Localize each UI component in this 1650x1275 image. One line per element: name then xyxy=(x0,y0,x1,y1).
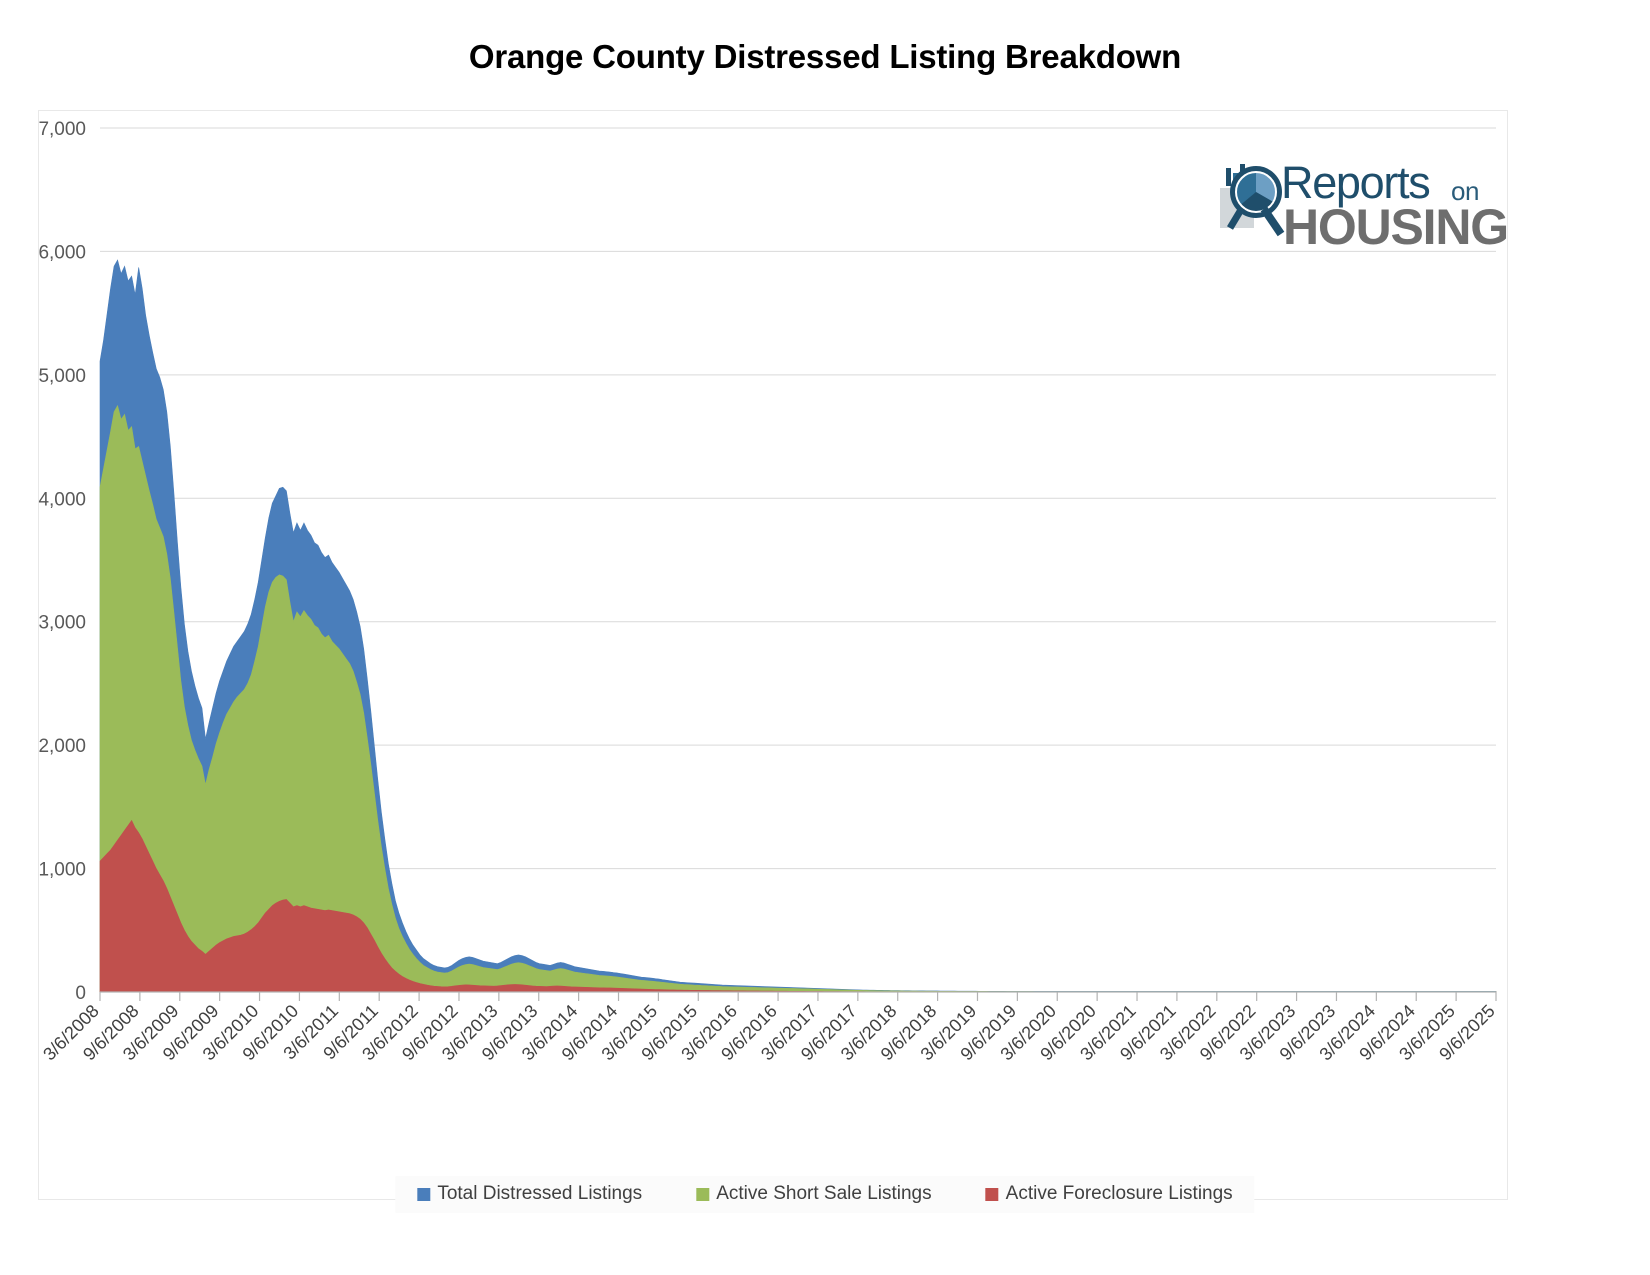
chart-card: Orange County Distressed Listing Breakdo… xyxy=(0,0,1650,1275)
logo-wordmark: Reports on HOUSING xyxy=(1281,160,1491,260)
legend-item-label: Active Foreclosure Listings xyxy=(1006,1183,1233,1205)
plot-frame xyxy=(38,110,1508,1200)
legend-item[interactable]: Total Distressed Listings xyxy=(417,1183,642,1205)
logo-word-housing: HOUSING xyxy=(1283,202,1508,252)
chart-title: Orange County Distressed Listing Breakdo… xyxy=(0,38,1650,76)
chart-legend: Total Distressed ListingsActive Short Sa… xyxy=(395,1176,1254,1213)
legend-swatch-icon xyxy=(696,1188,709,1201)
legend-item-label: Active Short Sale Listings xyxy=(716,1183,931,1205)
reports-on-housing-logo: Reports on HOUSING xyxy=(1218,160,1486,260)
legend-item-label: Total Distressed Listings xyxy=(437,1183,642,1205)
legend-item[interactable]: Active Short Sale Listings xyxy=(696,1183,931,1205)
legend-item[interactable]: Active Foreclosure Listings xyxy=(986,1183,1233,1205)
legend-swatch-icon xyxy=(986,1188,999,1201)
legend-swatch-icon xyxy=(417,1188,430,1201)
